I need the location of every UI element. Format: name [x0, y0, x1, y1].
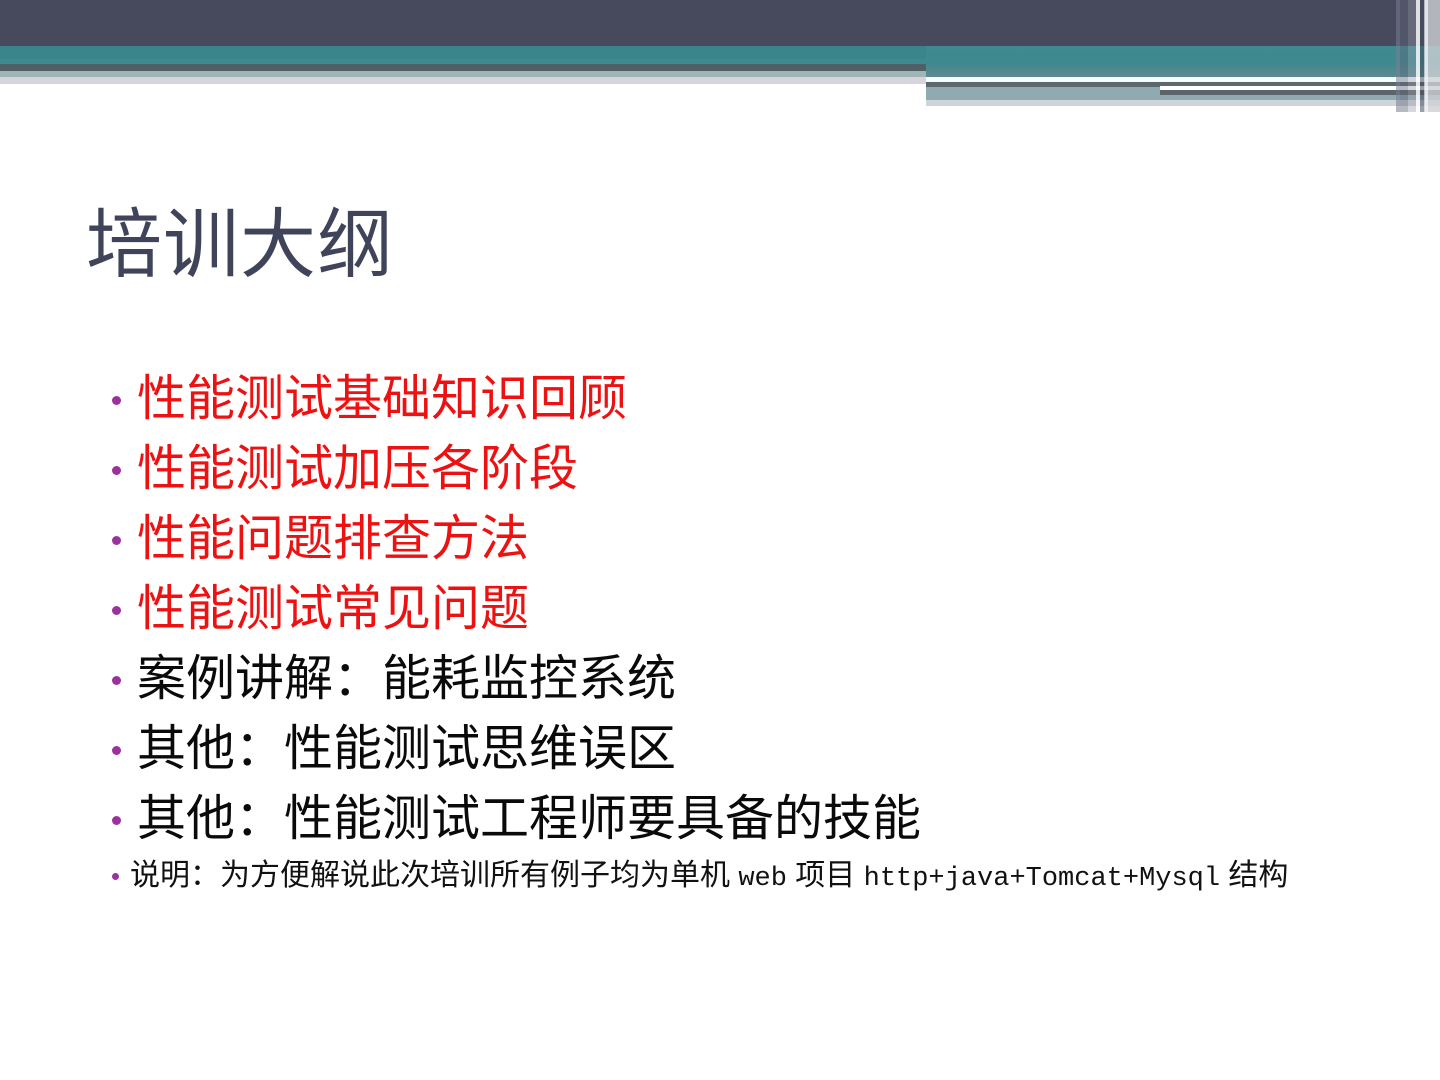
note-suffix: 结构: [1220, 859, 1288, 892]
bullet-item: 其他：性能测试思维误区: [112, 714, 1372, 784]
bullet-item: 性能测试常见问题: [112, 574, 1372, 644]
bullet-dot-icon: [112, 396, 121, 405]
bullet-dot-icon: [112, 536, 121, 545]
note-mono-stack: http+java+Tomcat+Mysql: [864, 864, 1220, 894]
header-stripe-gray: [1408, 0, 1416, 112]
note-mono-web: web: [738, 864, 787, 894]
bullet-label: 其他：性能测试思维误区: [137, 714, 1372, 784]
bullet-item: 性能测试加压各阶段: [112, 434, 1372, 504]
presentation-slide: 培训大纲 性能测试基础知识回顾 性能测试加压各阶段 性能问题排查方法 性能测试常…: [0, 0, 1440, 1080]
bullet-label: 其他：性能测试工程师要具备的技能: [137, 784, 1372, 854]
bullet-label: 案例讲解：能耗监控系统: [137, 644, 1372, 714]
bullet-dot-icon: [112, 816, 121, 825]
note-mid: 项目: [787, 859, 864, 892]
bullet-label: 性能测试加压各阶段: [137, 434, 1372, 504]
header-vertical-stripes: [1396, 0, 1440, 112]
slide-body-content: 性能测试基础知识回顾 性能测试加压各阶段 性能问题排查方法 性能测试常见问题 案…: [112, 364, 1372, 901]
note-label: 说明：为方便解说此次培训所有例子均为单机 web 项目 http+java+To…: [130, 854, 1355, 901]
bullet-label: 性能测试基础知识回顾: [137, 364, 1372, 434]
bullet-dot-icon: [112, 873, 119, 880]
bullet-dot-icon: [112, 466, 121, 475]
slide-header-decoration: [0, 0, 1440, 112]
bullet-dot-icon: [112, 746, 121, 755]
header-right-band-group: [926, 0, 1440, 112]
bullet-item: 案例讲解：能耗监控系统: [112, 644, 1372, 714]
bullet-item: 性能问题排查方法: [112, 504, 1372, 574]
header-stripe-slate: [1396, 0, 1400, 112]
note-prefix: 说明：为方便解说此次培训所有例子均为单机: [130, 859, 738, 892]
header-stripe-dark: [1420, 0, 1424, 112]
header-left-slate-rule: [0, 64, 926, 71]
header-left-teal-deep-band: [0, 46, 926, 59]
note-item: 说明：为方便解说此次培训所有例子均为单机 web 项目 http+java+To…: [112, 854, 1372, 901]
header-left-pale-rule: [0, 77, 926, 84]
bullet-label: 性能测试常见问题: [137, 574, 1372, 644]
bullet-label: 性能问题排查方法: [137, 504, 1372, 574]
bullet-dot-icon: [112, 676, 121, 685]
bullet-dot-icon: [112, 606, 121, 615]
header-left-band-group: [0, 0, 926, 112]
slide-title: 培训大纲: [86, 206, 394, 286]
header-stripe-slate-wide: [1400, 0, 1408, 112]
header-stripe-thin-white: [1425, 0, 1428, 112]
bullet-item: 性能测试基础知识回顾: [112, 364, 1372, 434]
header-right-teal-band: [926, 46, 1440, 77]
header-right-pale-band: [926, 100, 1440, 106]
bullet-item: 其他：性能测试工程师要具备的技能: [112, 784, 1372, 854]
header-accent-rule-upper: [926, 77, 1440, 81]
